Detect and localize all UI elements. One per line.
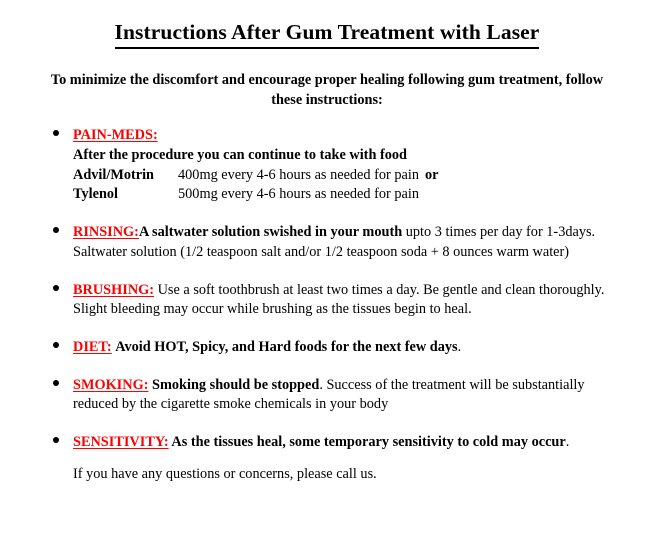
section-heading-pain-meds: PAIN-MEDS: (73, 127, 158, 143)
diet-emphasis: Avoid HOT, Spicy, and Hard foods for the… (115, 339, 457, 355)
bullet-icon (53, 227, 59, 233)
document-page: Instructions After Gum Treatment with La… (0, 0, 654, 560)
med-row: Tylenol500mg every 4-6 hours as needed f… (73, 185, 620, 205)
med-suffix (419, 186, 425, 202)
bullet-icon (53, 285, 59, 291)
intro-paragraph: To minimize the discomfort and encourage… (0, 49, 654, 111)
section-brushing: BRUSHING: Use a soft toothbrush at least… (0, 281, 654, 320)
med-row: Advil/Motrin400mg every 4-6 hours as nee… (73, 166, 620, 186)
sensitivity-body: . (566, 434, 570, 450)
diet-body: . (458, 339, 462, 355)
med-suffix: or (419, 167, 439, 183)
pain-meds-intro-line: After the procedure you can continue to … (73, 146, 620, 166)
section-diet: DIET: Avoid HOT, Spicy, and Hard foods f… (0, 338, 654, 358)
med-name: Advil/Motrin (73, 166, 178, 186)
sensitivity-emphasis: As the tissues heal, some temporary sens… (169, 434, 566, 450)
section-heading-brushing: BRUSHING: (73, 282, 154, 298)
med-dose: 400mg every 4-6 hours as needed for pain (178, 166, 419, 186)
rinsing-body: upto 3 times per day for 1-3days. (402, 224, 595, 240)
page-title-text: Instructions After Gum Treatment with La… (115, 21, 540, 49)
section-heading-smoking: SMOKING: (73, 377, 148, 393)
med-name: Tylenol (73, 185, 178, 205)
closing-line: If you have any questions or concerns, p… (0, 453, 654, 485)
bullet-icon (53, 380, 59, 386)
bullet-icon (53, 437, 59, 443)
page-title: Instructions After Gum Treatment with La… (0, 0, 654, 49)
bullet-icon (53, 342, 59, 348)
bullet-icon (53, 130, 59, 136)
section-rinsing: RINSING:A saltwater solution swished in … (0, 223, 654, 262)
section-sensitivity: SENSITIVITY: As the tissues heal, some t… (0, 433, 654, 453)
section-heading-rinsing: RINSING: (73, 224, 139, 240)
instructions-list: PAIN-MEDS: After the procedure you can c… (0, 110, 654, 453)
med-dose: 500mg every 4-6 hours as needed for pain (178, 185, 419, 205)
rinsing-recipe-line: Saltwater solution (1/2 teaspoon salt an… (73, 243, 620, 263)
rinsing-emphasis: A saltwater solution swished in your mou… (139, 224, 402, 240)
section-smoking: SMOKING: Smoking should be stopped. Succ… (0, 376, 654, 415)
section-heading-sensitivity: SENSITIVITY: (73, 434, 169, 450)
smoking-body: . Success of the treatment will be subst… (73, 377, 585, 413)
section-pain-meds: PAIN-MEDS: After the procedure you can c… (0, 126, 654, 205)
section-heading-diet: DIET: (73, 339, 112, 355)
smoking-emphasis: Smoking should be stopped (152, 377, 319, 393)
